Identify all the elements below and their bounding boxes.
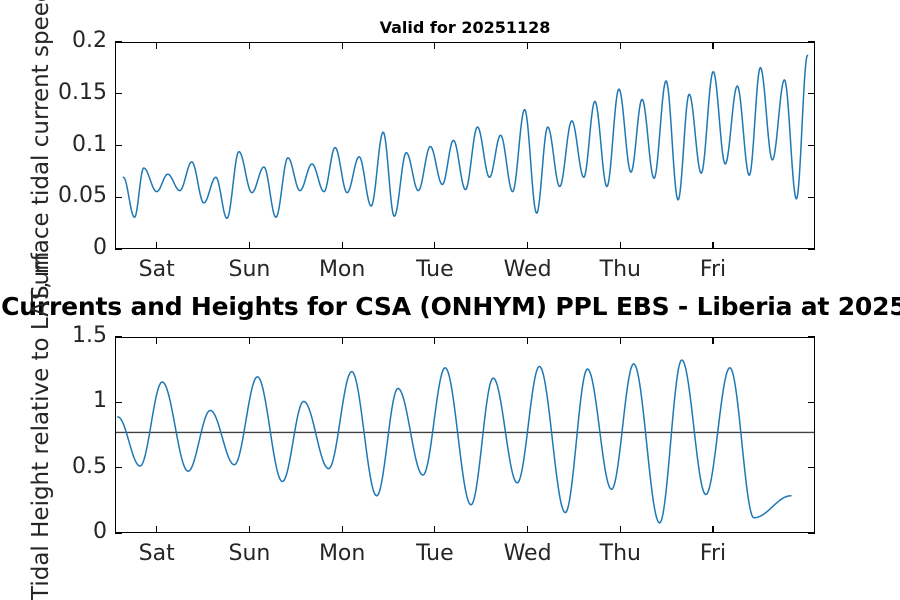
- y-tick-label: 0.5: [0, 456, 107, 478]
- y-tick-right: [808, 248, 815, 249]
- subplot-title-current-speed: Valid for 20251128: [115, 18, 815, 37]
- y-tick: [115, 145, 122, 146]
- x-tick: [712, 526, 713, 533]
- x-tick-top: [527, 337, 528, 344]
- x-tick: [156, 526, 157, 533]
- page-title: Tidal Currents and Heights for CSA (ONHY…: [0, 292, 900, 321]
- y-tick-right: [808, 467, 815, 468]
- y-tick: [115, 336, 122, 337]
- x-tick-top: [249, 42, 250, 49]
- y-tick-label: 0: [0, 237, 107, 259]
- y-tick-label: 0.2: [0, 30, 107, 52]
- y-tick-label: 0.1: [0, 134, 107, 156]
- y-tick-right: [808, 197, 815, 198]
- x-tick: [527, 526, 528, 533]
- x-tick-top: [249, 337, 250, 344]
- x-tick-label: Fri: [653, 543, 773, 565]
- x-tick: [434, 526, 435, 533]
- x-tick: [434, 242, 435, 249]
- x-tick-top: [620, 42, 621, 49]
- y-tick-right: [808, 336, 815, 337]
- x-tick: [342, 242, 343, 249]
- y-tick-right: [808, 532, 815, 533]
- y-tick: [115, 41, 122, 42]
- x-tick: [156, 242, 157, 249]
- y-tick-label: 1.5: [0, 325, 107, 347]
- data-line-0: [118, 360, 791, 523]
- y-tick-label: 1: [0, 390, 107, 412]
- x-tick: [249, 526, 250, 533]
- y-tick-right: [808, 402, 815, 403]
- y-tick-label: 0: [0, 521, 107, 543]
- y-tick-label: 0.15: [0, 82, 107, 104]
- x-tick-top: [712, 42, 713, 49]
- current-speed-line-chart: [116, 43, 814, 248]
- tidal-height-line-chart: [116, 338, 814, 532]
- x-tick: [527, 242, 528, 249]
- y-tick-right: [808, 145, 815, 146]
- x-tick-top: [342, 42, 343, 49]
- y-tick-label: 0.05: [0, 185, 107, 207]
- x-tick-label: Fri: [653, 259, 773, 281]
- x-tick: [620, 526, 621, 533]
- x-tick-top: [156, 42, 157, 49]
- y-tick: [115, 248, 122, 249]
- y-tick-right: [808, 93, 815, 94]
- x-tick-top: [712, 337, 713, 344]
- x-tick: [249, 242, 250, 249]
- data-line-0: [123, 55, 807, 218]
- y-tick: [115, 532, 122, 533]
- x-tick-top: [434, 337, 435, 344]
- y-tick: [115, 197, 122, 198]
- x-tick-top: [527, 42, 528, 49]
- tidal-figure: Valid for 20251128 Surface tidal current…: [0, 0, 900, 600]
- x-tick: [342, 526, 343, 533]
- x-tick: [712, 242, 713, 249]
- y-tick: [115, 467, 122, 468]
- y-axis-label-tidal-height: Tidal Height relative to LAT, m: [30, 252, 53, 600]
- plot-area-current-speed: [115, 42, 815, 249]
- y-tick: [115, 402, 122, 403]
- x-tick-top: [434, 42, 435, 49]
- x-tick-top: [620, 337, 621, 344]
- plot-area-tidal-height: [115, 337, 815, 533]
- y-tick: [115, 93, 122, 94]
- x-tick-top: [156, 337, 157, 344]
- y-tick-right: [808, 41, 815, 42]
- x-tick: [620, 242, 621, 249]
- x-tick-top: [342, 337, 343, 344]
